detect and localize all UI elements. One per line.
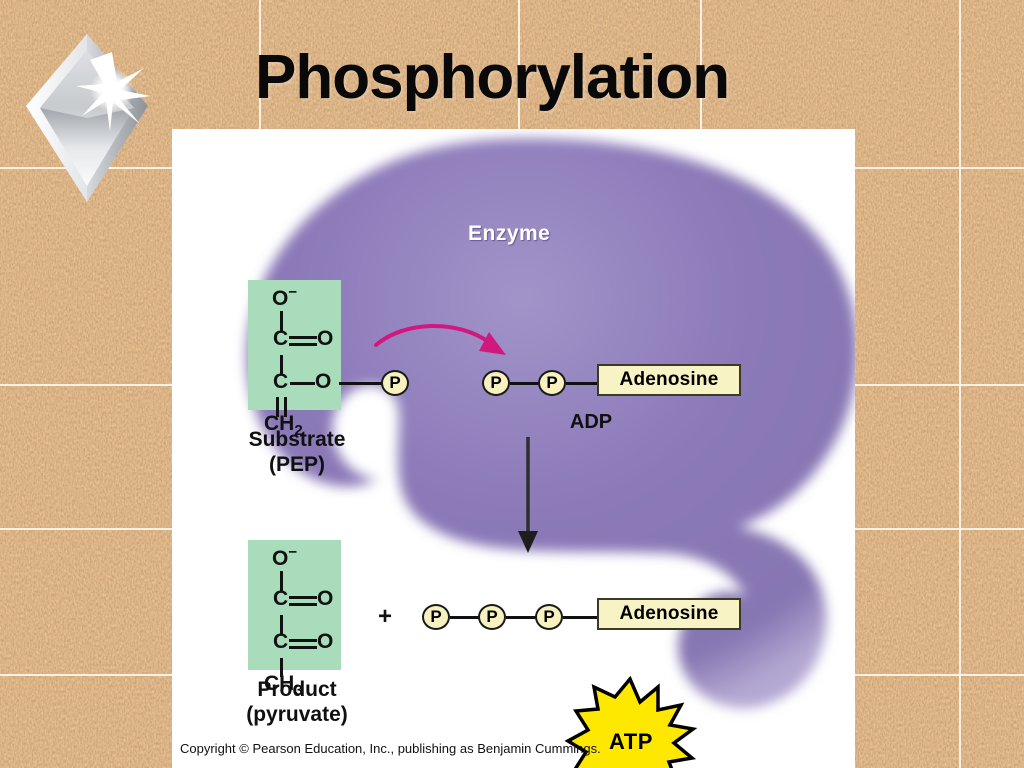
adp-bond-1	[510, 382, 539, 385]
product-bond-1b	[289, 603, 317, 606]
atp-bond-3	[563, 616, 597, 619]
enzyme-label: Enzyme	[468, 222, 550, 246]
product-bond-1a	[289, 596, 317, 599]
adp-phosphate-2: P	[538, 370, 566, 396]
product-bond-3a	[289, 639, 317, 642]
product-caption-line1: Product	[212, 678, 382, 702]
substrate-atom-1: C	[273, 327, 288, 351]
product-atom-2-right: O	[317, 630, 333, 654]
diamond-sparkle-icon	[20, 28, 154, 208]
substrate-bond-1a	[289, 336, 317, 339]
atp-bond-2	[506, 616, 536, 619]
substrate-atom-2-right: O	[315, 370, 331, 394]
product-atom-1-right: O	[317, 587, 333, 611]
product-bond-3b	[289, 646, 317, 649]
adp-bond-2	[566, 382, 599, 385]
adp-phosphate-1: P	[482, 370, 510, 396]
substrate-atom-0: O−	[272, 284, 297, 311]
substrate-phosphate-circle: P	[381, 370, 409, 396]
plus-sign: +	[378, 603, 392, 631]
product-caption-line2: (pyruvate)	[202, 703, 392, 727]
tile-grout-v4	[959, 0, 961, 768]
atp-phosphate-3: P	[535, 604, 563, 630]
product-atom-1: C	[273, 587, 288, 611]
substrate-caption-line1: Substrate	[212, 428, 382, 452]
adp-adenosine-box: Adenosine	[597, 364, 741, 396]
substrate-bond-1b	[289, 343, 317, 346]
atp-adenosine-box: Adenosine	[597, 598, 741, 630]
substrate-atom-2: C	[273, 370, 288, 394]
atp-phosphate-1: P	[422, 604, 450, 630]
page-title: Phosphorylation	[255, 38, 875, 118]
substrate-phosphate-bond	[339, 382, 383, 385]
figure-panel: Enzyme O− C O C O CH2 P Substrate (PEP) …	[172, 129, 855, 768]
substrate-atom-1-right: O	[317, 327, 333, 351]
atp-phosphate-2: P	[478, 604, 506, 630]
product-atom-2: C	[273, 630, 288, 654]
substrate-bond-3	[290, 382, 315, 385]
copyright-notice: Copyright © Pearson Education, Inc., pub…	[180, 741, 601, 756]
substrate-caption-line2: (PEP)	[212, 453, 382, 477]
adp-label: ADP	[536, 411, 646, 434]
atp-label: ATP	[609, 729, 653, 755]
atp-bond-1	[450, 616, 479, 619]
product-atom-0: O−	[272, 544, 297, 571]
